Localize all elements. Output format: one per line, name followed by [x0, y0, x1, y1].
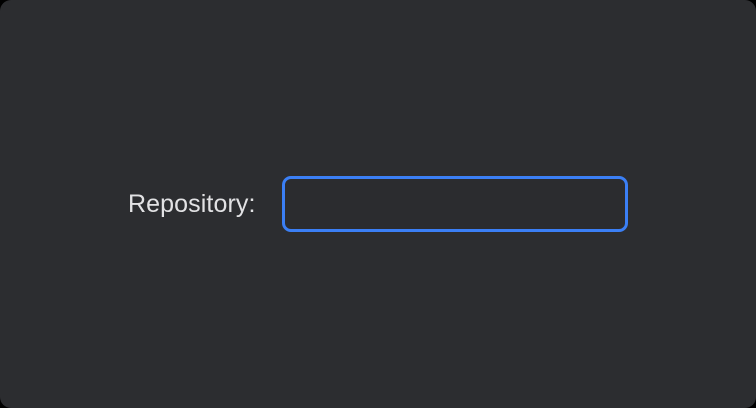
dialog-window: Repository: — [0, 0, 756, 408]
repository-input[interactable] — [282, 176, 628, 232]
repository-form-row: Repository: — [128, 176, 628, 232]
repository-input-wrapper — [282, 176, 628, 232]
repository-label: Repository: — [128, 192, 256, 217]
